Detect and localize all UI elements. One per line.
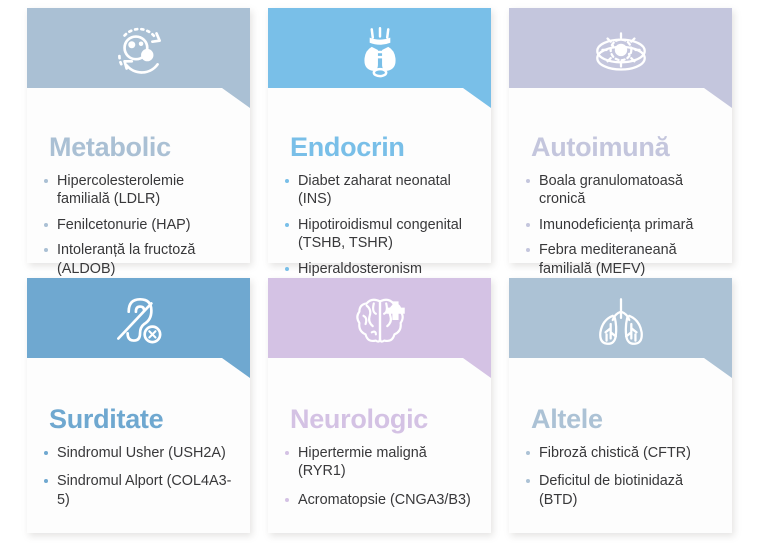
list-item: Sindromul Usher (USH2A)	[43, 444, 236, 462]
card-header-altele	[509, 278, 732, 378]
card-header-neurologic	[268, 278, 491, 378]
bullet-dot	[44, 223, 48, 227]
list-item: Fibroză chistică (CFTR)	[525, 444, 718, 462]
list-item: Hipertermie malignă (RYR1)	[284, 444, 477, 481]
list-item-label: Fibroză chistică (CFTR)	[539, 445, 691, 461]
bullet-dot	[285, 223, 289, 227]
lungs-icon	[588, 289, 654, 355]
category-card-altele[interactable]: Altele Fibroză chistică (CFTR) Deficitul…	[509, 278, 732, 533]
bullet-dot	[44, 248, 48, 252]
list-item: Hipotiroidismul congenital (TSHB, TSHR)	[284, 216, 477, 253]
card-title-altele: Altele	[531, 406, 718, 433]
list-item: Hipercolesterolemie familială (LDLR)	[43, 172, 236, 209]
card-header-endocrin	[268, 8, 491, 108]
disease-list-autoimuna: Boala granulomatoasă cronică Imunodefici…	[525, 172, 718, 278]
list-item-label: Intoleranță la fructoză (ALDOB)	[57, 242, 195, 276]
bullet-dot	[285, 179, 289, 183]
card-title-autoimuna: Autoimună	[531, 134, 718, 161]
card-body-altele: Altele Fibroză chistică (CFTR) Deficitul…	[509, 378, 732, 531]
infographic-board: Metabolic Hipercolesterolemie familială …	[0, 0, 768, 543]
bullet-dot	[526, 451, 530, 455]
card-header-autoimuna	[509, 8, 732, 108]
list-item: Diabet zaharat neonatal (INS)	[284, 172, 477, 209]
list-item-label: Diabet zaharat neonatal (INS)	[298, 173, 451, 207]
brain-cross-icon	[347, 289, 413, 355]
list-item-label: Boala granulomatoasă cronică	[539, 173, 683, 207]
card-body-surditate: Surditate Sindromul Usher (USH2A) Sindro…	[27, 378, 250, 531]
list-item-label: Deficitul de biotinidază (BTD)	[539, 473, 683, 507]
category-card-autoimuna[interactable]: Autoimună Boala granulomatoasă cronică I…	[509, 8, 732, 263]
list-item: Fenilcetonurie (HAP)	[43, 216, 236, 234]
card-body-autoimuna: Autoimună Boala granulomatoasă cronică I…	[509, 108, 732, 297]
bullet-dot	[44, 451, 48, 455]
bullet-dot	[526, 223, 530, 227]
bullet-dot	[44, 179, 48, 183]
thyroid-icon	[347, 19, 413, 85]
deaf-ear-icon	[106, 289, 172, 355]
list-item-label: Sindromul Usher (USH2A)	[57, 445, 226, 461]
disease-list-altele: Fibroză chistică (CFTR) Deficitul de bio…	[525, 444, 718, 509]
disease-list-surditate: Sindromul Usher (USH2A) Sindromul Alport…	[43, 444, 236, 509]
list-item: Imunodeficiența primară	[525, 216, 718, 234]
list-item-label: Febra mediteraneană familială (MEFV)	[539, 242, 677, 276]
card-title-endocrin: Endocrin	[290, 134, 477, 161]
category-card-endocrin[interactable]: Endocrin Diabet zaharat neonatal (INS) H…	[268, 8, 491, 263]
card-body-metabolic: Metabolic Hipercolesterolemie familială …	[27, 108, 250, 297]
list-item-label: Fenilcetonurie (HAP)	[57, 217, 191, 233]
list-item-label: Acromatopsie (CNGA3/B3)	[298, 492, 471, 508]
list-item: Acromatopsie (CNGA3/B3)	[284, 491, 477, 509]
metabolism-icon	[106, 19, 172, 85]
card-header-surditate	[27, 278, 250, 378]
category-card-surditate[interactable]: Surditate Sindromul Usher (USH2A) Sindro…	[27, 278, 250, 533]
bullet-dot	[285, 451, 289, 455]
disease-list-metabolic: Hipercolesterolemie familială (LDLR) Fen…	[43, 172, 236, 278]
list-item-label: Hipercolesterolemie familială (LDLR)	[57, 173, 184, 207]
category-card-neurologic[interactable]: Neurologic Hipertermie malignă (RYR1) Ac…	[268, 278, 491, 533]
list-item-label: Hipotiroidismul congenital (TSHB, TSHR)	[298, 217, 462, 251]
list-item-label: Imunodeficiența primară	[539, 217, 693, 233]
bullet-dot	[526, 248, 530, 252]
list-item-label: Sindromul Alport (COL4A3-5)	[57, 473, 231, 507]
list-item: Sindromul Alport (COL4A3-5)	[43, 472, 236, 509]
disease-list-neurologic: Hipertermie malignă (RYR1) Acromatopsie …	[284, 444, 477, 509]
card-title-neurologic: Neurologic	[290, 406, 477, 433]
bullet-dot	[526, 179, 530, 183]
category-card-metabolic[interactable]: Metabolic Hipercolesterolemie familială …	[27, 8, 250, 263]
list-item-label: Hipertermie malignă (RYR1)	[298, 445, 427, 479]
bullet-dot	[285, 267, 289, 271]
bullet-dot	[285, 498, 289, 502]
list-item: Intoleranță la fructoză (ALDOB)	[43, 241, 236, 278]
card-title-metabolic: Metabolic	[49, 134, 236, 161]
cell-antibody-icon	[588, 19, 654, 85]
list-item: Febra mediteraneană familială (MEFV)	[525, 241, 718, 278]
list-item: Deficitul de biotinidază (BTD)	[525, 472, 718, 509]
card-grid: Metabolic Hipercolesterolemie familială …	[27, 8, 750, 533]
card-header-metabolic	[27, 8, 250, 108]
bullet-dot	[526, 479, 530, 483]
card-title-surditate: Surditate	[49, 406, 236, 433]
list-item: Boala granulomatoasă cronică	[525, 172, 718, 209]
card-body-neurologic: Neurologic Hipertermie malignă (RYR1) Ac…	[268, 378, 491, 531]
bullet-dot	[44, 479, 48, 483]
